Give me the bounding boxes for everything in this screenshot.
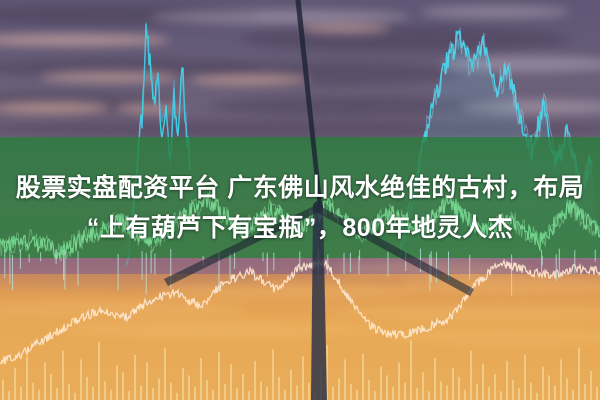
banner-image: 股票实盘配资平台 广东佛山风水绝佳的古村，布局 “上有葫芦下有宝瓶”，800年地… — [0, 0, 600, 400]
turbine-blade-up — [295, 0, 322, 208]
wind-turbine — [0, 0, 600, 400]
turbine-hub — [313, 201, 323, 211]
turbine-mast — [311, 205, 327, 400]
turbine-blade-lower-left — [164, 206, 318, 286]
turbine-blade-lower-right — [316, 206, 474, 296]
